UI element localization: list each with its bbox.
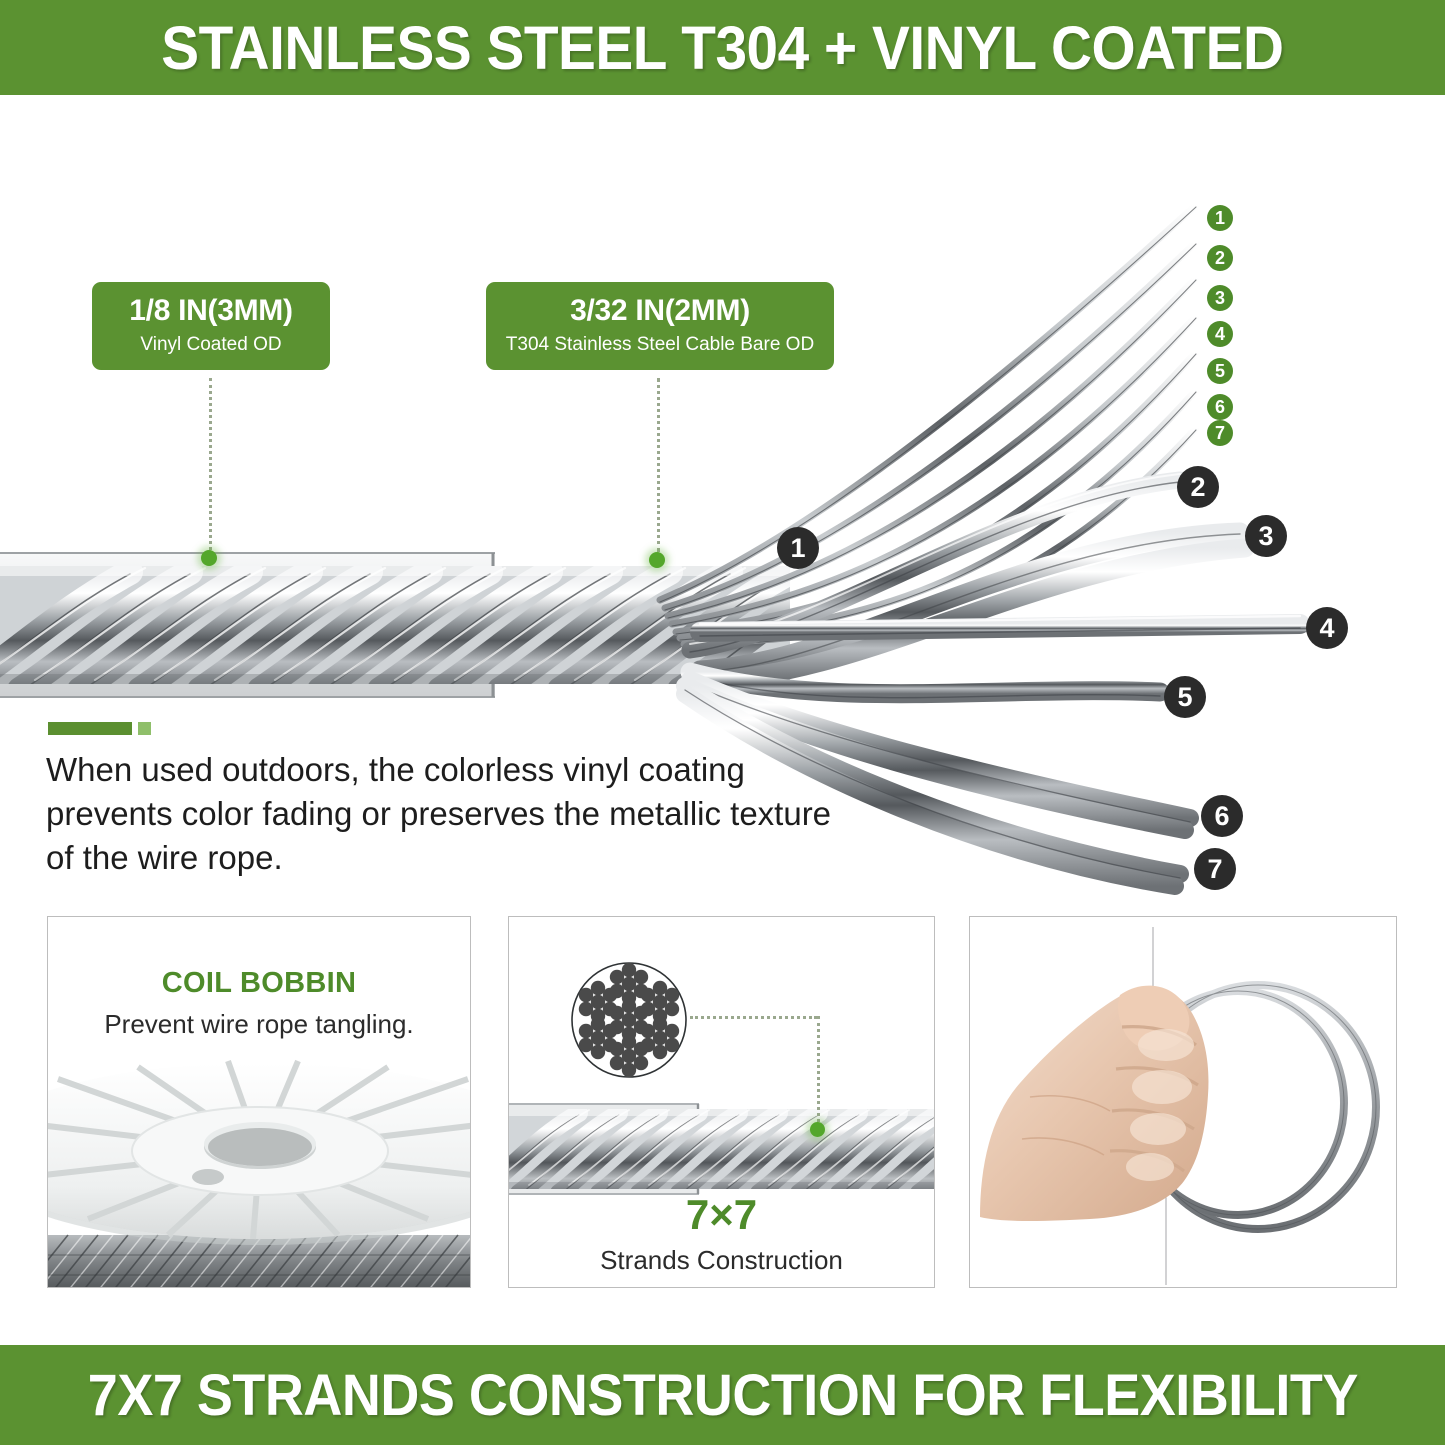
wire-badge-7: 7 [1207,420,1233,446]
wire-badge-5: 5 [1207,358,1233,384]
strands-rope [509,1103,935,1195]
leader-line-vinyl [209,378,212,550]
marker-dot-cross-section [810,1122,825,1137]
card-bobbin-subtitle: Prevent wire rope tangling. [48,1009,470,1040]
callout-bare-subtitle: T304 Stainless Steel Cable Bare OD [504,334,816,357]
description-text: When used outdoors, the colorless vinyl … [46,748,836,880]
marker-dot-bare [649,552,665,568]
bobbin-image [48,1059,471,1288]
header-banner-text: STAINLESS STEEL T304 + VINYL COATED [161,13,1283,83]
card-bobbin-title: COIL BOBBIN [48,967,470,1000]
wire-badge-1: 1 [1207,205,1233,231]
infographic-page: STAINLESS STEEL T304 + VINYL COATED [0,0,1445,1445]
strand-badge-4: 4 [1306,607,1348,649]
callout-vinyl-subtitle: Vinyl Coated OD [110,334,312,357]
card-hand-flexibility [969,916,1397,1288]
leader-line-bare [657,378,660,552]
accent-bar [48,722,151,735]
callout-bare-title: 3/32 IN(2MM) [504,294,816,329]
card-strands-construction: 7×7 Strands Construction [508,916,935,1288]
strand-badge-2: 2 [1177,466,1219,508]
strand-badge-7: 7 [1194,848,1236,890]
strand-badge-6: 6 [1201,795,1243,837]
wire-badge-4: 4 [1207,321,1233,347]
leader-line-cross-section-v [817,1016,820,1128]
footer-banner: 7X7 STRANDS CONSTRUCTION FOR FLEXIBILITY [0,1345,1445,1445]
footer-banner-text: 7X7 STRANDS CONSTRUCTION FOR FLEXIBILITY [87,1362,1357,1429]
cross-section-circle [572,963,686,1077]
callout-vinyl-coated-od: 1/8 IN(3MM) Vinyl Coated OD [92,282,330,370]
wire-badge-2: 2 [1207,245,1233,271]
card-coil-bobbin: COIL BOBBIN Prevent wire rope tangling. [47,916,471,1288]
callout-bare-od: 3/32 IN(2MM) T304 Stainless Steel Cable … [486,282,834,370]
strand-badge-3: 3 [1245,515,1287,557]
accent-bar-short [138,722,151,735]
marker-dot-vinyl [201,550,217,566]
wire-badge-6: 6 [1207,394,1233,420]
strand-badge-5: 5 [1164,676,1206,718]
accent-bar-long [48,722,132,735]
wire-badge-3: 3 [1207,285,1233,311]
hand-image [970,917,1397,1288]
strand-badge-1: 1 [777,527,819,569]
card-strands-number: 7×7 [509,1191,934,1239]
leader-line-cross-section-h [690,1016,817,1019]
header-banner: STAINLESS STEEL T304 + VINYL COATED [0,0,1445,95]
callout-vinyl-title: 1/8 IN(3MM) [110,294,312,329]
fist [980,986,1208,1221]
card-strands-subtitle: Strands Construction [509,1245,934,1276]
